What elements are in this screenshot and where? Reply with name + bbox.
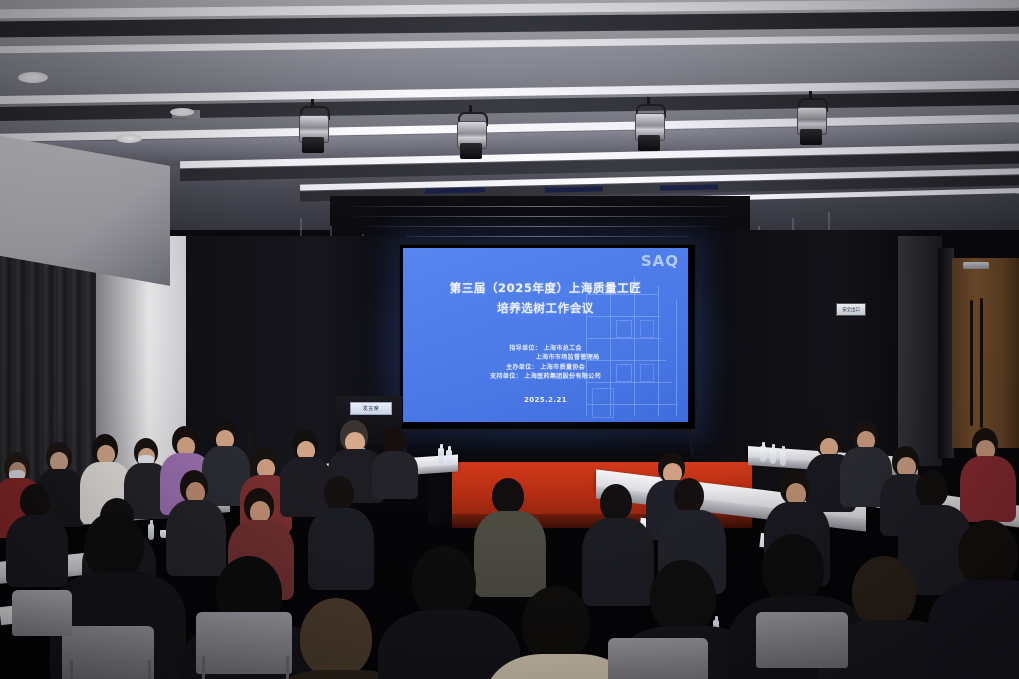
torso bbox=[308, 508, 374, 590]
torso bbox=[474, 511, 546, 597]
spotlight-lens bbox=[460, 143, 482, 159]
head bbox=[84, 512, 144, 580]
door-handle[interactable] bbox=[970, 300, 973, 426]
recess-slat bbox=[354, 226, 726, 227]
door-closer bbox=[963, 262, 989, 269]
head bbox=[300, 598, 372, 678]
water-bottle bbox=[770, 448, 776, 464]
ceiling-vent bbox=[172, 110, 200, 118]
conference-room-photo: 安全出口 SAQ 第三届（202 bbox=[0, 0, 1019, 679]
spotlight-lens bbox=[638, 135, 660, 151]
recess-slat bbox=[344, 216, 736, 217]
organizer-row: 支持单位： 上海医药集团股份有限公司 bbox=[403, 372, 688, 381]
slide-title-line2: 培养选树工作会议 bbox=[403, 298, 688, 318]
head bbox=[20, 484, 50, 518]
water-bottle bbox=[148, 524, 154, 540]
recess-slat bbox=[364, 236, 716, 237]
track-spotlight bbox=[794, 98, 828, 150]
head bbox=[650, 560, 716, 634]
track-spotlight bbox=[632, 104, 666, 156]
saq-logo: SAQ bbox=[641, 252, 679, 270]
spotlight-lens bbox=[302, 137, 324, 153]
recess-slat bbox=[334, 206, 746, 207]
torso bbox=[6, 515, 68, 587]
track-spotlight bbox=[296, 106, 330, 158]
chair[interactable] bbox=[62, 626, 154, 679]
chair-leg bbox=[148, 660, 151, 679]
chair-leg bbox=[202, 656, 205, 679]
wall-panel-far-right bbox=[898, 236, 942, 466]
recessed-downlight bbox=[116, 134, 142, 143]
wooden-door[interactable] bbox=[952, 258, 1019, 448]
chair[interactable] bbox=[196, 612, 292, 674]
torso bbox=[960, 456, 1016, 522]
torso bbox=[166, 500, 226, 576]
water-bottle bbox=[780, 450, 786, 466]
podium-sign-label: 发言席 bbox=[363, 405, 380, 412]
slide-organizers: 指导单位： 上海市总工会 上海市市场监督管理局 主办单位： 上海市质量协会 支持… bbox=[403, 344, 688, 382]
head bbox=[412, 546, 476, 618]
head bbox=[958, 520, 1018, 588]
torso bbox=[582, 518, 654, 606]
chair-leg bbox=[70, 660, 73, 679]
projection-screen: SAQ 第三届（2025年度）上海质量工匠 培养选树工作会议 指导单位： 上海市… bbox=[403, 248, 688, 422]
head bbox=[324, 476, 354, 511]
head bbox=[852, 556, 916, 628]
torso bbox=[372, 451, 418, 499]
head bbox=[522, 586, 590, 662]
chair[interactable] bbox=[12, 590, 72, 636]
podium-sign: 发言席 bbox=[350, 402, 392, 415]
water-bottle bbox=[438, 448, 444, 464]
head bbox=[492, 478, 524, 514]
chair-leg bbox=[286, 656, 289, 679]
head bbox=[600, 484, 632, 521]
exit-sign-label: 安全出口 bbox=[842, 307, 860, 313]
slide-date: 2025.2.21 bbox=[403, 396, 688, 404]
water-bottle bbox=[760, 446, 766, 462]
head bbox=[382, 426, 406, 454]
slide-title-line1: 第三届（2025年度）上海质量工匠 bbox=[403, 278, 688, 298]
torso bbox=[928, 580, 1019, 679]
exit-sign: 安全出口 bbox=[836, 303, 866, 316]
door-handle[interactable] bbox=[980, 298, 983, 428]
spotlight-lens bbox=[800, 129, 822, 145]
organizer-row: 主办单位： 上海市质量协会 bbox=[403, 363, 688, 372]
head bbox=[674, 478, 704, 513]
recessed-downlight bbox=[18, 72, 48, 83]
organizer-row: 上海市市场监督管理局 bbox=[403, 353, 688, 362]
chair[interactable] bbox=[608, 638, 708, 679]
organizer-row: 指导单位： 上海市总工会 bbox=[403, 344, 688, 353]
water-bottle bbox=[446, 450, 452, 466]
slide-title: 第三届（2025年度）上海质量工匠 培养选树工作会议 bbox=[403, 278, 688, 318]
chair[interactable] bbox=[756, 612, 848, 668]
track-spotlight bbox=[454, 112, 488, 164]
head bbox=[916, 470, 948, 508]
head bbox=[762, 534, 824, 604]
